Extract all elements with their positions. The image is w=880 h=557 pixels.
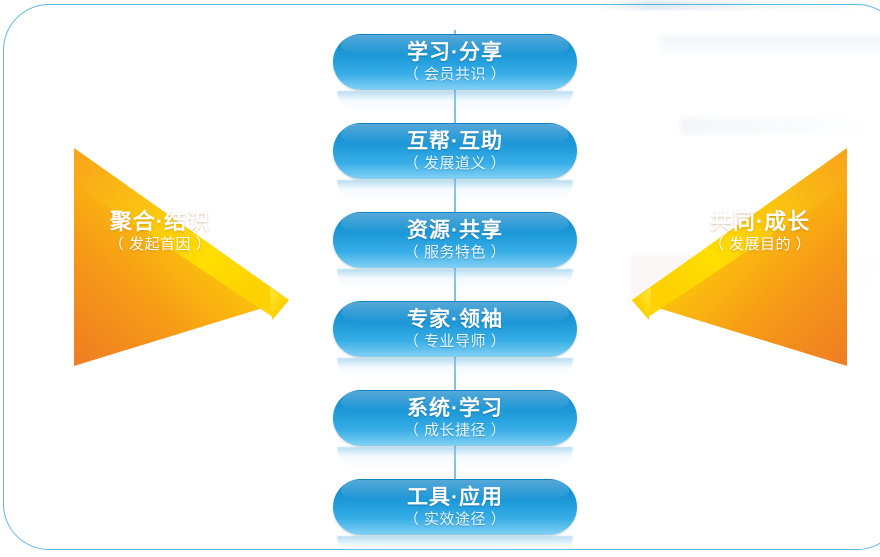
pill-body[interactable]: 工具·应用 （ 实效途径 ） (333, 479, 577, 535)
left-arrow-label: 聚合·结识 （ 发起首因 ） (80, 208, 240, 255)
pill-title: 系统·学习 (407, 396, 503, 421)
diagram-canvas: 聚合·结识 （ 发起首因 ） (0, 0, 880, 557)
pill-body[interactable]: 系统·学习 （ 成长捷径 ） (333, 390, 577, 446)
pill-item-4[interactable]: 专家·领袖 （ 专业导师 ） (333, 301, 577, 380)
pill-item-1[interactable]: 学习·分享 （ 会员共识 ） (333, 34, 577, 113)
background-watermark-block (660, 36, 880, 58)
left-arrow-shape[interactable]: 聚合·结识 （ 发起首因 ） (74, 148, 289, 366)
pill-title: 学习·分享 (407, 40, 503, 65)
pill-reflection (337, 358, 573, 380)
pill-reflection (337, 180, 573, 202)
pill-item-3[interactable]: 资源·共享 （ 服务特色 ） (333, 212, 577, 291)
pill-body[interactable]: 资源·共享 （ 服务特色 ） (333, 212, 577, 268)
pill-title: 资源·共享 (407, 218, 503, 243)
right-arrow-title: 共同·成长 (680, 208, 840, 235)
pill-subtitle: （ 实效途径 ） (404, 510, 506, 529)
pill-subtitle: （ 服务特色 ） (404, 243, 506, 262)
right-arrow-subtitle: （ 发展目的 ） (680, 235, 840, 255)
right-arrow-icon (632, 148, 847, 366)
background-watermark-streak (596, 0, 880, 10)
left-arrow-subtitle: （ 发起首因 ） (80, 235, 240, 255)
pill-subtitle: （ 成长捷径 ） (404, 421, 506, 440)
pill-subtitle: （ 专业导师 ） (404, 332, 506, 351)
left-arrow-icon (74, 148, 289, 366)
pill-reflection (337, 447, 573, 469)
pill-item-2[interactable]: 互帮·互助 （ 发展道义 ） (333, 123, 577, 202)
left-arrow-title: 聚合·结识 (80, 208, 240, 235)
pill-subtitle: （ 会员共识 ） (404, 65, 506, 84)
pill-body[interactable]: 学习·分享 （ 会员共识 ） (333, 34, 577, 90)
background-watermark-line (680, 118, 870, 134)
pill-reflection (337, 536, 573, 557)
pill-title: 工具·应用 (407, 485, 503, 510)
pill-subtitle: （ 发展道义 ） (404, 154, 506, 173)
pill-item-5[interactable]: 系统·学习 （ 成长捷径 ） (333, 390, 577, 469)
pill-body[interactable]: 专家·领袖 （ 专业导师 ） (333, 301, 577, 357)
pill-body[interactable]: 互帮·互助 （ 发展道义 ） (333, 123, 577, 179)
pill-title: 专家·领袖 (407, 307, 503, 332)
pill-reflection (337, 269, 573, 291)
pill-item-6[interactable]: 工具·应用 （ 实效途径 ） (333, 479, 577, 557)
pill-title: 互帮·互助 (407, 129, 503, 154)
pill-reflection (337, 91, 573, 113)
right-arrow-shape[interactable]: 共同·成长 （ 发展目的 ） (632, 148, 847, 366)
right-arrow-label: 共同·成长 （ 发展目的 ） (680, 208, 840, 255)
